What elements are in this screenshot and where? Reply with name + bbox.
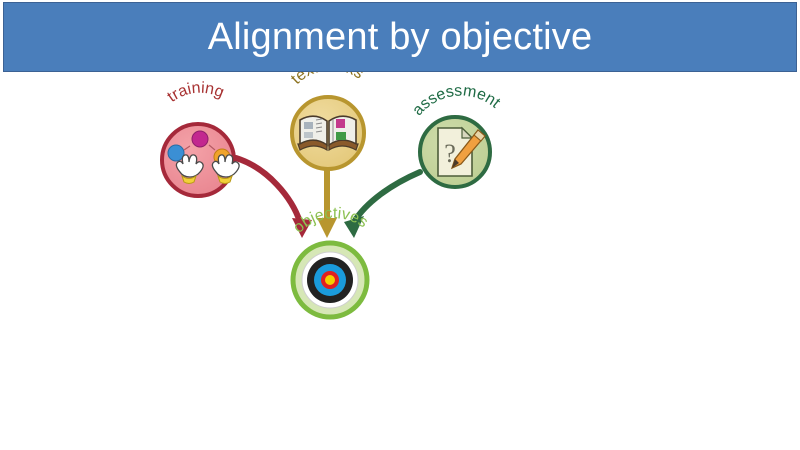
ball-magenta-icon: [192, 131, 208, 147]
node-label-textbooks: textbooks: [288, 72, 366, 88]
alignment-diagram: training text: [0, 72, 800, 450]
title-banner: Alignment by objective: [3, 2, 797, 72]
node-objectives[interactable]: objectives: [290, 205, 371, 317]
ball-blue-icon: [168, 145, 184, 161]
node-training[interactable]: training: [162, 80, 239, 196]
page-title: Alignment by objective: [208, 16, 593, 59]
target-bullseye-icon: [302, 252, 358, 308]
node-textbooks[interactable]: textbooks: [288, 72, 366, 169]
node-assessment[interactable]: ? assessment: [409, 82, 503, 187]
slide-canvas: Alignment by objective: [0, 0, 800, 450]
node-label-assessment: assessment: [409, 82, 503, 119]
arrow-assessment-to-objectives: [344, 172, 420, 238]
node-label-training: training: [164, 80, 226, 106]
